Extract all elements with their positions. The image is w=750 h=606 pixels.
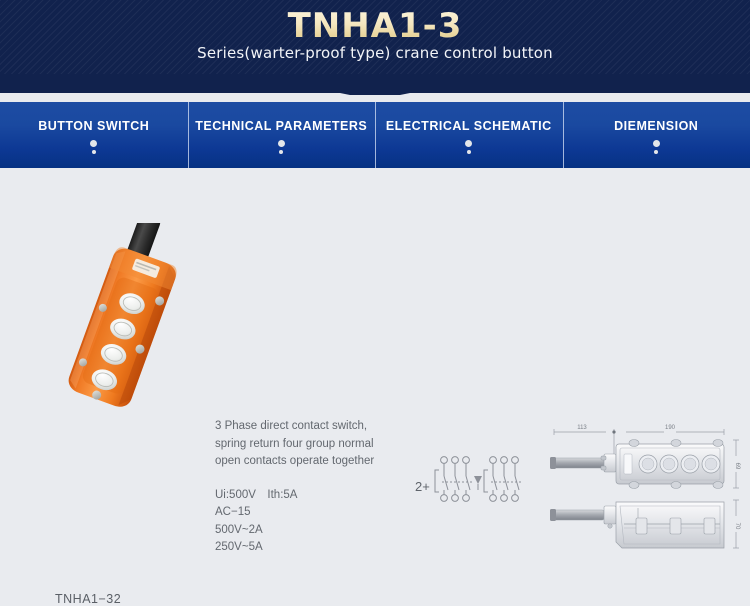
svg-text:70: 70 <box>734 523 740 530</box>
svg-text:190: 190 <box>665 425 676 431</box>
page-subtitle: Series(warter-proof type) crane control … <box>0 44 750 62</box>
tab-label: TECHNICAL PARAMETERS <box>195 119 367 133</box>
content-area: TNHA1−32 3 Phase direct contact switch, … <box>0 168 750 500</box>
spec-line-3: 250V~5A <box>215 539 380 557</box>
dot-large-icon <box>653 140 660 147</box>
specification-text: 3 Phase direct contact switch, spring re… <box>215 418 380 557</box>
dot-small-icon <box>467 150 471 154</box>
tab-technical-parameters[interactable]: TECHNICAL PARAMETERS <box>188 102 376 168</box>
dot-large-icon <box>90 140 97 147</box>
tab-button-switch[interactable]: BUTTON SWITCH <box>0 102 188 168</box>
dot-large-icon <box>278 140 285 147</box>
spec-line-1: AC−15 <box>215 504 380 522</box>
svg-text:113: 113 <box>577 425 587 431</box>
tab-label: ELECTRICAL SCHEMATIC <box>386 119 552 133</box>
tab-label: DIEMENSION <box>614 119 698 133</box>
spec-line-2: 500V~2A <box>215 522 380 540</box>
dot-small-icon <box>279 150 283 154</box>
tab-indicator-dots <box>465 140 472 154</box>
tab-electrical-schematic[interactable]: ELECTRICAL SCHEMATIC <box>375 102 563 168</box>
tab-diemension[interactable]: DIEMENSION <box>563 102 750 168</box>
dot-small-icon <box>654 150 658 154</box>
page-header: TNHA1-3 Series(warter-proof type) crane … <box>0 0 750 95</box>
spec-line-0: Ui:500V Ith:5A <box>215 487 380 505</box>
tab-indicator-dots <box>653 140 660 154</box>
spec-description: 3 Phase direct contact switch, spring re… <box>215 418 380 471</box>
tab-label: BUTTON SWITCH <box>38 119 149 133</box>
section-tab-bar: BUTTON SWITCH TECHNICAL PARAMETERS ELECT… <box>0 102 750 168</box>
dot-large-icon <box>465 140 472 147</box>
tab-indicator-dots <box>90 140 97 154</box>
tab-indicator-dots <box>278 140 285 154</box>
electrical-schematic-diagram <box>412 446 552 516</box>
dot-small-icon <box>92 150 96 154</box>
product-caption: TNHA1−32 <box>55 592 121 606</box>
page-title: TNHA1-3 <box>0 6 750 46</box>
product-image <box>45 223 205 423</box>
dimension-drawings: 113 190 <box>548 416 748 581</box>
svg-text:69: 69 <box>734 463 740 470</box>
